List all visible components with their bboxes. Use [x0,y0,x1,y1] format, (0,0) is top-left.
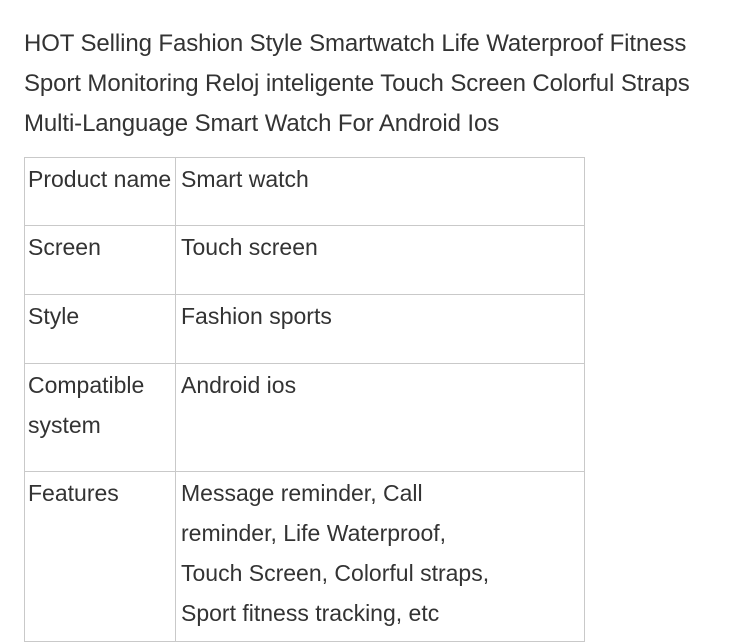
spec-table-container: Product name Smart watch Screen Touch sc… [0,144,750,642]
spec-label-screen: Screen [25,226,176,295]
table-row: Compatible system Android ios [25,364,585,472]
table-row: Screen Touch screen [25,226,585,295]
spec-value-screen: Touch screen [176,226,585,295]
table-row: Features Message reminder, Call reminder… [25,472,585,642]
spec-value-features: Message reminder, Call reminder, Life Wa… [176,472,585,642]
table-row: Style Fashion sports [25,295,585,364]
table-row: Product name Smart watch [25,158,585,226]
spec-value-style: Fashion sports [176,295,585,364]
product-title: HOT Selling Fashion Style Smartwatch Lif… [0,0,750,144]
spec-table-body: Product name Smart watch Screen Touch sc… [25,158,585,642]
spec-label-compatible-system: Compatible system [25,364,176,472]
product-specification-table: Product name Smart watch Screen Touch sc… [24,157,585,642]
spec-label-style: Style [25,295,176,364]
product-description-page: HOT Selling Fashion Style Smartwatch Lif… [0,0,750,635]
spec-value-compatible-system: Android ios [176,364,585,472]
spec-label-product-name: Product name [25,158,176,226]
spec-label-features: Features [25,472,176,642]
spec-value-product-name: Smart watch [176,158,585,226]
